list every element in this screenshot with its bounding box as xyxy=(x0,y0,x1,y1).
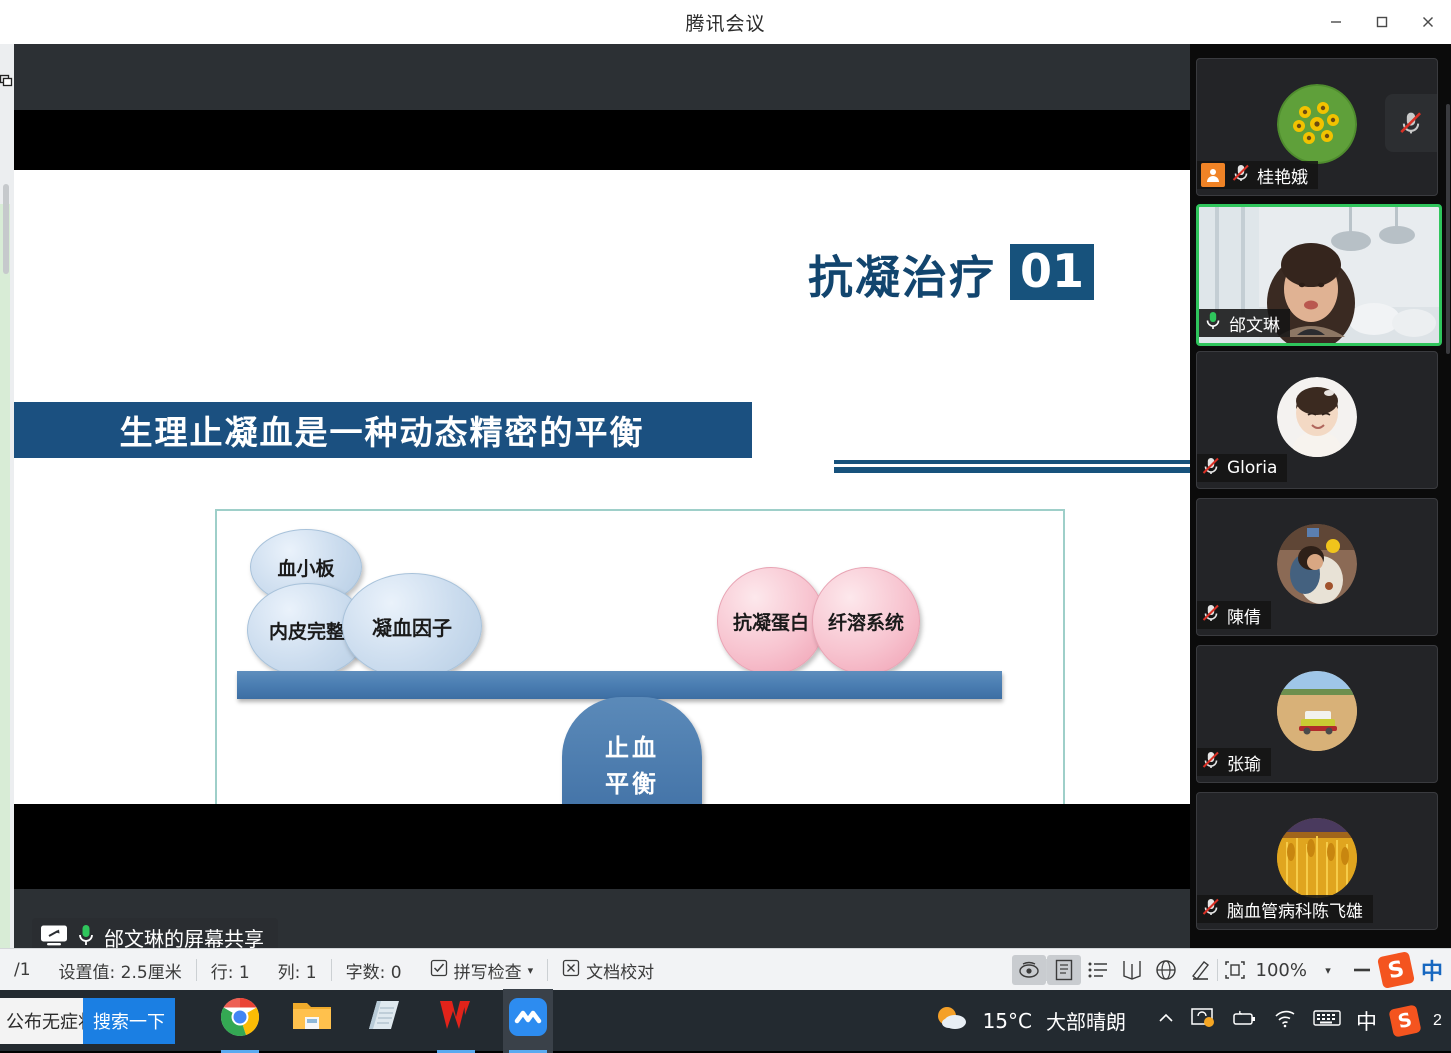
display-sync-icon[interactable] xyxy=(1190,1006,1216,1035)
screen-share-owner: 邰文琳的屏幕共享 xyxy=(104,923,264,949)
participant-name: 脑血管病科陈飞雄 xyxy=(1227,897,1363,922)
chevron-up-icon[interactable] xyxy=(1156,1011,1176,1030)
participant-nameplate: Gloria xyxy=(1197,454,1287,482)
participant-tile[interactable]: Gloria xyxy=(1196,351,1438,489)
background-app-scrollbar[interactable] xyxy=(3,184,9,274)
fulcrum-line-1: 止血 xyxy=(605,730,659,766)
wps-office-icon[interactable] xyxy=(431,989,481,1053)
shared-screen-stage: 抗凝治疗 01 生理止凝血是一种动态精密的平衡 血小板 内皮完整 凝血因子 抗凝… xyxy=(14,44,1190,948)
keyboard-icon[interactable] xyxy=(1312,1008,1342,1033)
diagram-node-clotting-factor: 凝血因子 xyxy=(342,573,482,679)
status-word-count[interactable]: 字数: 0 xyxy=(332,958,416,983)
status-bar: /1 设置值: 2.5厘米 行: 1 列: 1 字数: 0 拼写检查 ▾ 文档校… xyxy=(0,948,1451,991)
zoom-level[interactable]: 100% xyxy=(1252,960,1311,981)
slide-section-title: 抗凝治疗 xyxy=(808,255,996,300)
mute-button-overlay[interactable] xyxy=(1385,94,1437,152)
slide-section-number: 01 xyxy=(1010,244,1094,300)
chevron-down-icon[interactable]: ▾ xyxy=(1311,955,1345,985)
participant-nameplate: 脑血管病科陈飞雄 xyxy=(1197,895,1373,923)
mic-off-icon xyxy=(1201,603,1221,628)
mic-off-icon xyxy=(1201,750,1221,775)
web-view-icon[interactable] xyxy=(1149,955,1183,985)
avatar xyxy=(1277,524,1357,604)
slide-header-rule xyxy=(834,460,1190,464)
notepad-icon[interactable] xyxy=(359,989,409,1053)
screen-share-icon xyxy=(40,924,68,949)
window-title-bar: 腾讯会议 xyxy=(0,0,1451,45)
slide-section-header: 抗凝治疗 01 xyxy=(808,244,1094,300)
slide-band-text: 生理止凝血是一种动态精密的平衡 xyxy=(120,406,645,454)
file-explorer-icon[interactable] xyxy=(287,989,337,1053)
avatar xyxy=(1277,84,1357,164)
participant-name: 陳倩 xyxy=(1227,603,1261,628)
page-view-icon[interactable] xyxy=(1047,955,1081,985)
taskbar: 公布无症状... 搜索一下 xyxy=(0,990,1451,1051)
participant-tile[interactable]: 张瑜 xyxy=(1196,645,1438,783)
markup-icon[interactable] xyxy=(1183,955,1217,985)
eye-icon[interactable] xyxy=(1012,955,1046,985)
participant-tile[interactable]: 桂艳娥 xyxy=(1196,58,1438,196)
participant-name: 张瑜 xyxy=(1227,750,1261,775)
sogou-s-glyph: S xyxy=(1388,1004,1421,1037)
participant-nameplate: 邰文琳 xyxy=(1199,309,1290,337)
taskbar-clock[interactable]: 2 xyxy=(1433,1012,1447,1030)
letterbox-top xyxy=(14,110,1190,170)
participant-name: 邰文琳 xyxy=(1229,311,1280,336)
participants-panel[interactable]: 桂艳娥 xyxy=(1190,44,1451,948)
fulcrum-line-2: 平衡 xyxy=(605,766,659,802)
status-page: /1 xyxy=(0,960,45,980)
avatar xyxy=(1277,818,1357,898)
app-running-indicator xyxy=(221,1050,259,1053)
presentation-slide: 抗凝治疗 01 生理止凝血是一种动态精密的平衡 血小板 内皮完整 凝血因子 抗凝… xyxy=(14,170,1190,804)
status-setting-value[interactable]: 设置值: 2.5厘米 xyxy=(45,958,196,983)
mic-on-icon xyxy=(1203,310,1223,337)
ime-mode-indicator[interactable]: 中 xyxy=(1413,954,1451,986)
search-submit-button[interactable]: 搜索一下 xyxy=(83,998,175,1044)
participant-tile[interactable]: 脑血管病科陈飞雄 xyxy=(1196,792,1438,930)
participant-tile[interactable]: 陳倩 xyxy=(1196,498,1438,636)
spell-check-label: 拼写检查 xyxy=(454,958,522,983)
spell-check-icon xyxy=(430,959,448,982)
status-col: 列: 1 xyxy=(264,958,331,983)
weather-partly-cloudy-icon[interactable] xyxy=(935,1003,969,1038)
balance-diagram: 血小板 内皮完整 凝血因子 抗凝蛋白 纤溶系统 止血 平衡 xyxy=(215,509,1065,839)
chrome-icon[interactable] xyxy=(215,989,265,1053)
chevron-down-icon: ▾ xyxy=(528,964,534,977)
participant-name: 桂艳娥 xyxy=(1257,163,1308,188)
mic-off-icon xyxy=(1201,897,1221,922)
slide-header-rule-2 xyxy=(834,467,1190,473)
system-tray: 15°C 大部晴朗 xyxy=(935,1003,1451,1038)
sogou-s-glyph: S xyxy=(1377,951,1415,989)
diagram-node-anticoagulant-protein: 抗凝蛋白 xyxy=(717,567,825,675)
tray-ime-mode[interactable]: 中 xyxy=(1356,1006,1377,1036)
participant-nameplate: 陳倩 xyxy=(1197,601,1271,629)
stage-top-band xyxy=(14,44,1190,110)
tencent-meeting-icon[interactable] xyxy=(503,989,553,1053)
participants-scrollbar[interactable] xyxy=(1446,104,1450,354)
participant-nameplate: 张瑜 xyxy=(1197,748,1271,776)
spell-check-button[interactable]: 拼写检查 ▾ xyxy=(416,958,548,983)
sogou-logo-icon[interactable]: S xyxy=(1391,1007,1419,1035)
minimize-icon[interactable] xyxy=(1313,0,1359,44)
host-badge xyxy=(1201,163,1225,187)
window-title: 腾讯会议 xyxy=(685,9,765,36)
status-row: 行: 1 xyxy=(197,958,264,983)
taskbar-app-list xyxy=(215,989,553,1053)
background-app-green-strip xyxy=(0,204,10,964)
background-app-edge xyxy=(0,44,15,948)
proofread-button[interactable]: 文档校对 xyxy=(548,958,668,983)
participant-tile[interactable]: 邰文琳 xyxy=(1196,204,1442,346)
search-query-text: 公布无症状... xyxy=(0,1008,83,1034)
participant-nameplate: 桂艳娥 xyxy=(1197,161,1318,189)
mic-off-icon xyxy=(1231,163,1251,188)
mic-on-icon xyxy=(76,923,96,949)
wifi-icon[interactable] xyxy=(1272,1008,1298,1033)
app-running-indicator xyxy=(509,1050,547,1053)
diagram-beam xyxy=(237,671,1002,699)
app-running-indicator xyxy=(437,1050,475,1053)
battery-charging-icon[interactable] xyxy=(1230,1008,1258,1033)
avatar xyxy=(1277,377,1357,457)
weather-condition: 大部晴朗 xyxy=(1046,1006,1126,1035)
proofread-label: 文档校对 xyxy=(586,958,654,983)
reading-view-icon[interactable] xyxy=(1115,955,1149,985)
avatar xyxy=(1277,671,1357,751)
participant-name: Gloria xyxy=(1227,458,1277,478)
slide-band-title: 生理止凝血是一种动态精密的平衡 xyxy=(14,402,752,458)
taskbar-search-box[interactable]: 公布无症状... 搜索一下 xyxy=(0,998,175,1044)
diagram-node-fibrinolytic-system: 纤溶系统 xyxy=(812,567,920,675)
sogou-logo-icon[interactable]: S xyxy=(1379,955,1413,985)
screen-share-label: 邰文琳的屏幕共享 xyxy=(32,918,278,948)
mic-off-icon xyxy=(1201,456,1221,481)
outline-view-icon[interactable] xyxy=(1081,955,1115,985)
maximize-icon[interactable] xyxy=(1359,0,1405,44)
weather-temperature: 15°C xyxy=(983,1009,1032,1033)
close-icon[interactable] xyxy=(1405,0,1451,44)
letterbox-bottom xyxy=(14,804,1190,889)
window-controls xyxy=(1313,0,1451,44)
fit-page-icon[interactable] xyxy=(1218,955,1252,985)
zoom-out-icon[interactable] xyxy=(1345,955,1379,985)
status-bar-right: 100% ▾ S 中 xyxy=(1012,954,1451,986)
proofread-icon xyxy=(562,959,580,982)
